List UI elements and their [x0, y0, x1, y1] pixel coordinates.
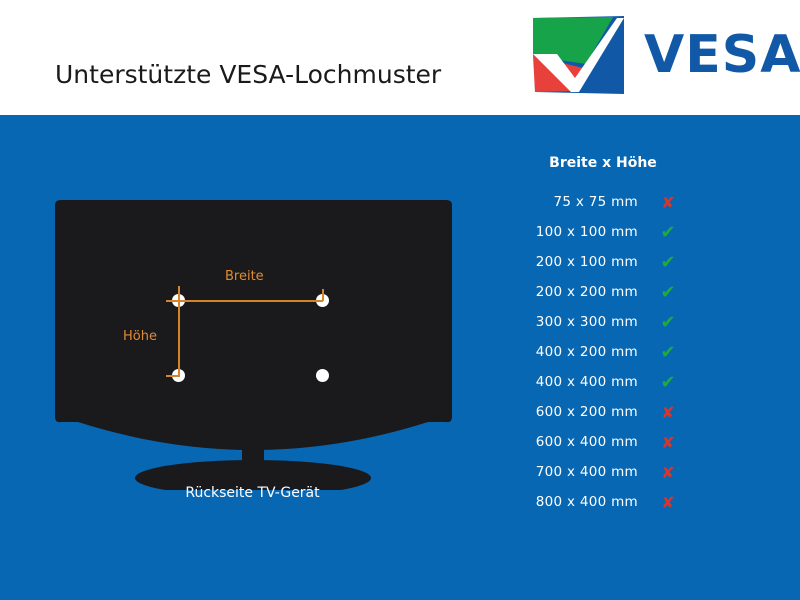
check-icon: ✔ [638, 254, 698, 271]
table-column-header: Breite x Höhe [490, 155, 710, 171]
cross-icon: ✘ [638, 434, 698, 451]
width-label: Breite [225, 269, 264, 284]
check-icon: ✔ [638, 284, 698, 301]
table-row: 800 x 400 mm✘ [490, 487, 710, 517]
pattern-size-label: 200 x 100 mm [490, 254, 638, 270]
dimension-tick-icon [166, 300, 194, 302]
tv-silhouette-icon [40, 190, 465, 490]
tv-diagram-caption: Rückseite TV-Gerät [40, 485, 465, 501]
width-dimension-line-icon [179, 300, 323, 302]
pattern-size-label: 400 x 200 mm [490, 344, 638, 360]
cross-icon: ✘ [638, 404, 698, 421]
table-row: 300 x 300 mm✔ [490, 307, 710, 337]
page-title: Unterstützte VESA-Lochmuster [55, 60, 441, 89]
dimension-tick-icon [322, 289, 324, 301]
table-rows-container: 75 x 75 mm✘100 x 100 mm✔200 x 100 mm✔200… [490, 187, 710, 517]
tv-back-diagram: Breite Höhe Rückseite TV-Gerät [40, 190, 465, 505]
vesa-pattern-table: Breite x Höhe 75 x 75 mm✘100 x 100 mm✔20… [490, 155, 710, 517]
table-row: 200 x 200 mm✔ [490, 277, 710, 307]
table-row: 600 x 400 mm✘ [490, 427, 710, 457]
pattern-size-label: 400 x 400 mm [490, 374, 638, 390]
table-row: 200 x 100 mm✔ [490, 247, 710, 277]
pattern-size-label: 300 x 300 mm [490, 314, 638, 330]
table-row: 600 x 200 mm✘ [490, 397, 710, 427]
table-row: 100 x 100 mm✔ [490, 217, 710, 247]
cross-icon: ✘ [638, 494, 698, 511]
vesa-wordmark: VESA [644, 24, 800, 86]
pattern-size-label: 100 x 100 mm [490, 224, 638, 240]
vesa-info-page: Unterstützte VESA-Lochmuster VESA [0, 0, 800, 600]
table-row: 400 x 400 mm✔ [490, 367, 710, 397]
check-icon: ✔ [638, 374, 698, 391]
check-icon: ✔ [638, 344, 698, 361]
pattern-size-label: 600 x 400 mm [490, 434, 638, 450]
mounting-hole-icon [316, 369, 329, 382]
cross-icon: ✘ [638, 464, 698, 481]
table-row: 400 x 200 mm✔ [490, 337, 710, 367]
check-icon: ✔ [638, 224, 698, 241]
vesa-logo: VESA [531, 16, 781, 94]
vesa-logo-mark-icon [531, 16, 626, 94]
check-icon: ✔ [638, 314, 698, 331]
dimension-tick-icon [166, 375, 180, 377]
pattern-size-label: 75 x 75 mm [490, 194, 638, 210]
cross-icon: ✘ [638, 194, 698, 211]
table-row: 700 x 400 mm✘ [490, 457, 710, 487]
page-header: Unterstützte VESA-Lochmuster VESA [0, 0, 800, 115]
pattern-size-label: 200 x 200 mm [490, 284, 638, 300]
pattern-size-label: 600 x 200 mm [490, 404, 638, 420]
pattern-size-label: 800 x 400 mm [490, 494, 638, 510]
content-area: Breite Höhe Rückseite TV-Gerät Breite x … [0, 115, 800, 600]
height-label: Höhe [123, 329, 157, 344]
pattern-size-label: 700 x 400 mm [490, 464, 638, 480]
table-row: 75 x 75 mm✘ [490, 187, 710, 217]
